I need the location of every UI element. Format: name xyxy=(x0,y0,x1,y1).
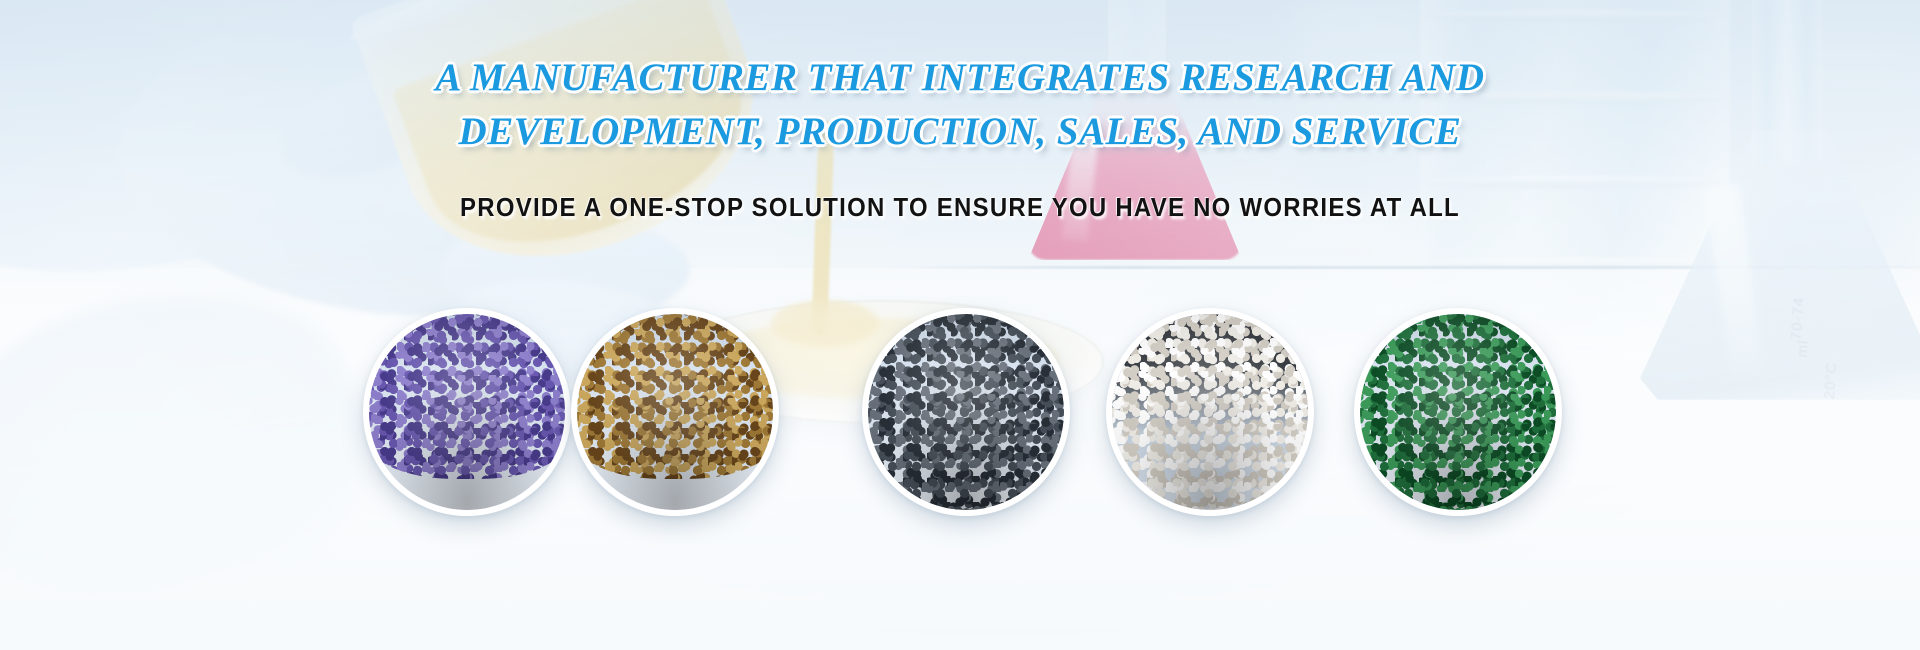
pellet-granules xyxy=(868,314,1064,510)
pellet-field xyxy=(1112,314,1308,510)
pellet-granules xyxy=(369,314,565,479)
swatch-white-pellets[interactable] xyxy=(1106,308,1314,516)
product-swatch-row xyxy=(0,308,1920,578)
banner-text-block: A MANUFACTURER THAT INTEGRATES RESEARCH … xyxy=(0,52,1920,223)
pellet-granules xyxy=(577,314,773,479)
promo-banner: 70-74 ml 20°C A MANUFACTURER THAT INTEGR… xyxy=(0,0,1920,650)
pellet-granules xyxy=(1112,314,1308,510)
headline-line-1: A MANUFACTURER THAT INTEGRATES RESEARCH … xyxy=(0,52,1920,104)
pellet-heap xyxy=(1112,314,1308,510)
pellet-field xyxy=(369,314,565,510)
swatch-brown-pellets[interactable] xyxy=(571,308,779,516)
pellet-field xyxy=(868,314,1064,510)
pellet-granules xyxy=(1360,314,1556,510)
pellet-heap xyxy=(577,314,773,479)
pellet-heap xyxy=(868,314,1064,510)
page-title: A MANUFACTURER THAT INTEGRATES RESEARCH … xyxy=(0,52,1920,158)
swatch-black-pellets[interactable] xyxy=(862,308,1070,516)
pellet-field xyxy=(1360,314,1556,510)
swatch-purple-pellets[interactable] xyxy=(363,308,571,516)
swatch-green-pellets[interactable] xyxy=(1354,308,1562,516)
pellet-field xyxy=(577,314,773,510)
subheadline: PROVIDE A ONE-STOP SOLUTION TO ENSURE YO… xyxy=(77,192,1843,223)
pellet-heap xyxy=(369,314,565,479)
headline-line-2: DEVELOPMENT, PRODUCTION, SALES, AND SERV… xyxy=(0,106,1920,158)
pellet-heap xyxy=(1360,314,1556,510)
